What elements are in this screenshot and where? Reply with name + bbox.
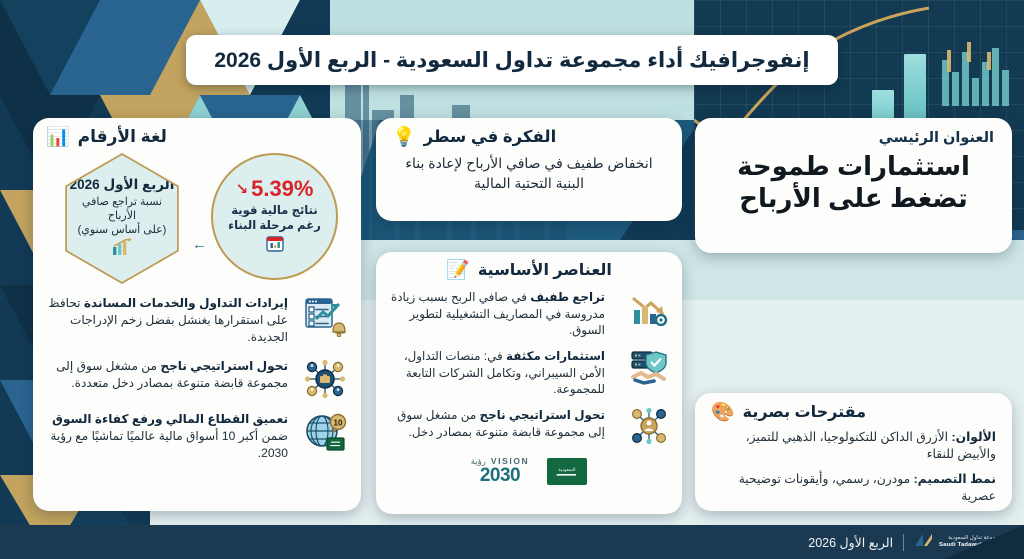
bar-chart-icon: 📊 [46, 128, 70, 147]
network-briefcase-icon [302, 358, 348, 400]
list-item: إيرادات التداول والخدمات المساندة تحافظ … [46, 295, 348, 347]
list-item-text: استثمارات مكثفة في: منصات التداول، الأمن… [388, 348, 605, 398]
network-people-icon [628, 407, 670, 445]
list-item-text: تراجع طفيف في صافي الربح بسبب زيادة مدرو… [388, 289, 605, 339]
list-item-rest: ضمن أكبر 10 أسواق مالية عالميًا تماشيًا … [50, 429, 288, 460]
status-badge-period-wrapper: الربع الأول 2026 نسبة تراجع صافي الأرباح… [56, 153, 188, 284]
footer-bar: مجموعة تداول السعودية Saudi Tadawul Grou… [0, 525, 1024, 559]
page-title: إنفوجرافيك أداء مجموعة تداول السعودية - … [214, 48, 809, 73]
list-item-bold: تعميق القطاع المالي ورفع كفاءة السوق [52, 412, 288, 426]
page-title-banner: إنفوجرافيك أداء مجموعة تداول السعودية - … [186, 35, 838, 85]
memo-pencil-icon: 📝 [446, 261, 470, 280]
vision-arabic-label: رؤية [471, 457, 486, 466]
vision-2030-row: السعودية VISION رؤية 2030 [388, 457, 670, 486]
list-item-text: تعميق القطاع المالي ورفع كفاءة السوق ضمن… [46, 411, 288, 463]
style-line: نمط التصميم: مودرن، رسمي، وأيقونات توضيح… [711, 471, 996, 506]
style-label: نمط التصميم: [914, 472, 996, 486]
colors-line: الألوان: الأزرق الداكن للتكنولوجيا، الذه… [711, 429, 996, 464]
idea-in-a-line-card: الفكرة في سطر 💡 انخفاض طفيف في صافي الأر… [376, 118, 682, 221]
headline-line-1: استثمارات طموحة [713, 151, 994, 183]
stat-caption-line-2: رغم مرحلة البناء [228, 218, 321, 233]
list-item: تحول استراتيجي ناجح من مشغل سوق إلى مجمو… [388, 407, 670, 445]
headline-kicker: العنوان الرئيسي [713, 130, 994, 146]
server-shield-handshake-icon [628, 348, 670, 386]
vision-number: 2030 [480, 466, 520, 485]
idea-card-body: انخفاض طفيف في صافي الأرباح لإعادة بناء … [392, 153, 666, 194]
list-item-bold: تراجع طفيف [530, 290, 605, 304]
list-item: تحول استراتيجي ناجح من مشغل سوق إلى مجمو… [46, 358, 348, 400]
elements-card-title: العناصر الأساسية [478, 260, 612, 280]
list-item-bold: تحول استراتيجي ناجح [480, 408, 606, 422]
headline-line-2: تضغط على الأرباح [713, 183, 994, 215]
list-item: استثمارات مكثفة في: منصات التداول، الأمن… [388, 348, 670, 398]
tadawul-arrow-logo [914, 532, 934, 552]
top10-badge-label: 10 [334, 418, 343, 427]
period-label: الربع الأول 2026 [70, 177, 175, 193]
stat-badges: 5.39% ↘ نتائج مالية قوية رغم مرحلة البنا… [46, 153, 348, 284]
list-item-bold: استثمارات مكثفة [506, 349, 605, 363]
lightbulb-icon: 💡 [392, 128, 416, 147]
idea-card-title: الفكرة في سطر [424, 127, 557, 147]
list-item: تراجع طفيف في صافي الربح بسبب زيادة مدرو… [388, 289, 670, 339]
flag-shahada-text: السعودية [559, 467, 576, 473]
main-headline-card: العنوان الرئيسي استثمارات طموحة تضغط على… [695, 118, 1012, 253]
calendar-chart-icon [265, 234, 285, 257]
list-item-text: تحول استراتيجي ناجح من مشغل سوق إلى مجمو… [46, 358, 288, 392]
arrow-down-right-icon: ↘ [236, 180, 249, 198]
numbers-list: إيرادات التداول والخدمات المساندة تحافظ … [46, 295, 348, 462]
status-badge-period: الربع الأول 2026 نسبة تراجع صافي الأرباح… [58, 155, 186, 282]
stat-value: 5.39% [251, 176, 313, 202]
list-item-bold: تحول استراتيجي ناجح [160, 359, 288, 373]
vision-2030-logo: VISION رؤية 2030 [471, 457, 530, 486]
globe-top10-flag-icon: 10 [302, 411, 348, 453]
numbers-card-title: لغة الأرقام [78, 127, 167, 147]
palette-icon: 🎨 [711, 403, 735, 422]
footer-corner-accent [944, 525, 1024, 559]
language-of-numbers-card: لغة الأرقام 📊 5.39% ↘ نتائج مالية قوية ر… [33, 118, 361, 511]
footer-divider [903, 534, 904, 551]
colors-label: الألوان: [951, 430, 996, 444]
checklist-growth-bell-icon [302, 295, 348, 337]
arrow-left-icon: ← [192, 236, 207, 253]
growth-chart-icon [111, 238, 133, 260]
list-item-text: تحول استراتيجي ناجح من مشغل سوق إلى مجمو… [388, 407, 605, 440]
declining-bar-chart-gear-icon [628, 289, 670, 327]
infographic-canvas: إنفوجرافيك أداء مجموعة تداول السعودية - … [0, 0, 1024, 559]
list-item-text: إيرادات التداول والخدمات المساندة تحافظ … [46, 295, 288, 347]
stat-caption-line-1: نتائج مالية قوية [228, 203, 321, 218]
list-item: 10 تعميق القطاع المالي ورفع كفاءة السوق … [46, 411, 348, 463]
key-elements-card: العناصر الأساسية 📝 تراجع طفيف في صافي ال… [376, 252, 682, 514]
vision-latin-label: VISION [491, 457, 529, 466]
footer-quarter-label: الربع الأول 2026 [808, 535, 893, 550]
period-caption-line-1: نسبة تراجع صافي الأرباح [68, 195, 176, 224]
visual-card-title: مقترحات بصرية [743, 402, 866, 422]
saudi-flag-icon: السعودية [547, 458, 587, 485]
list-item-bold: إيرادات التداول والخدمات المساندة [84, 296, 288, 310]
status-badge-decline: 5.39% ↘ نتائج مالية قوية رغم مرحلة البنا… [211, 153, 338, 280]
visual-suggestions-card: مقترحات بصرية 🎨 الألوان: الأزرق الداكن ل… [695, 393, 1012, 511]
period-caption-line-2: (على أساس سنوي) [68, 223, 176, 237]
